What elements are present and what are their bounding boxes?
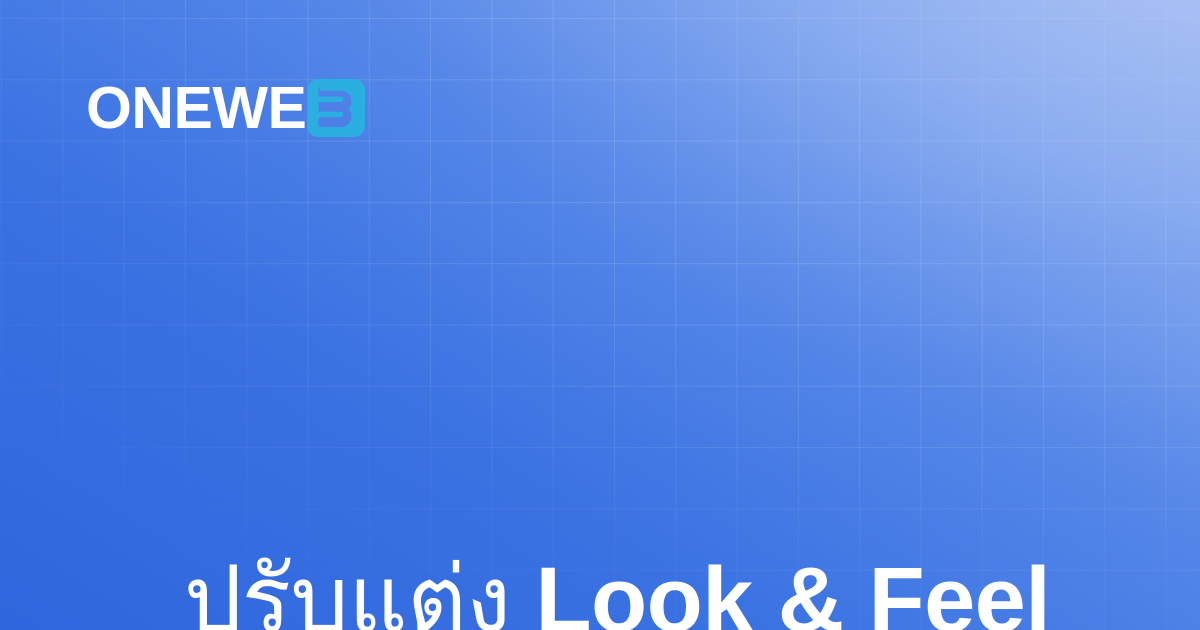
logo-wordmark: ONEWE <box>86 78 306 138</box>
brand-logo[interactable]: ONEWE <box>86 78 365 138</box>
rounded-square-b-icon <box>307 79 365 137</box>
page-title: ปรับแต่ง Look & Feel <box>84 444 1114 630</box>
page-title-thai: ปรับแต่ง <box>184 549 511 630</box>
page-title-latin: Look & Feel <box>510 549 1050 630</box>
og-card: ONEWE ปรับแต่ง Look & Feel <box>0 0 1200 630</box>
